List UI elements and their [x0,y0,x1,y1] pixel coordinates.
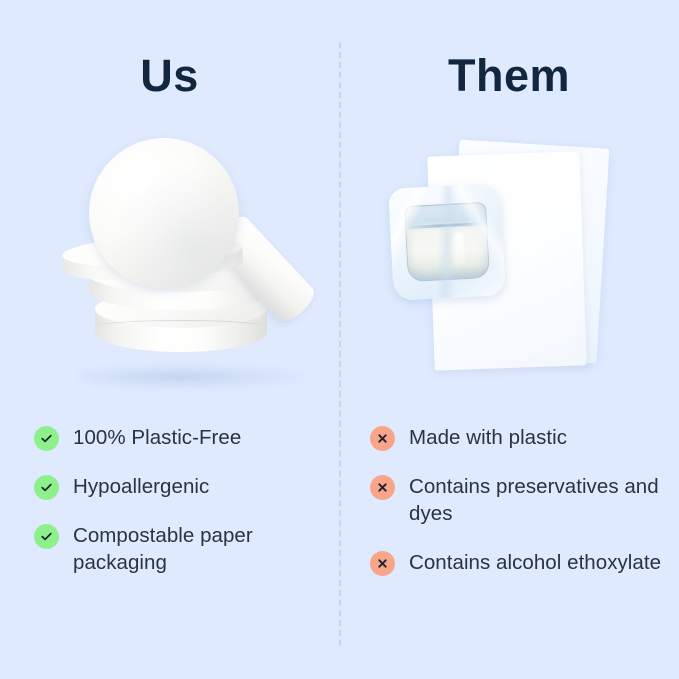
list-item: 100% Plastic-Free [34,424,324,451]
drawback-list-them: Made with plastic Contains preservatives… [370,424,665,598]
list-item-label: Compostable paper packaging [73,522,324,576]
plastic-wipes-illustration [389,130,639,400]
list-item-label: 100% Plastic-Free [73,424,241,451]
check-icon [34,475,59,500]
tablet-large-face [89,138,239,288]
list-item: Made with plastic [370,424,665,451]
list-item: Contains alcohol ethoxylate [370,549,665,576]
comparison-graphic: Us Them [0,0,679,679]
sachet-crinkle-highlight [388,183,506,301]
list-item-label: Hypoallergenic [73,473,209,500]
list-item: Compostable paper packaging [34,522,324,576]
tablet-shadow [77,366,307,388]
cross-icon [370,551,395,576]
benefit-list-us: 100% Plastic-Free Hypoallergenic Compost… [34,424,324,598]
illustration-us [0,130,339,400]
list-item: Hypoallergenic [34,473,324,500]
tablet-stack-illustration [55,138,305,398]
plastic-sachet [388,183,506,301]
column-heading-them: Them [339,50,679,102]
list-item-label: Contains alcohol ethoxylate [409,549,661,576]
list-item: Contains preservatives and dyes [370,473,665,527]
check-icon [34,524,59,549]
cross-icon [370,475,395,500]
list-item-label: Contains preservatives and dyes [409,473,665,527]
check-icon [34,426,59,451]
column-heading-us: Us [0,50,339,102]
illustration-them [339,130,679,400]
list-item-label: Made with plastic [409,424,567,451]
cross-icon [370,426,395,451]
